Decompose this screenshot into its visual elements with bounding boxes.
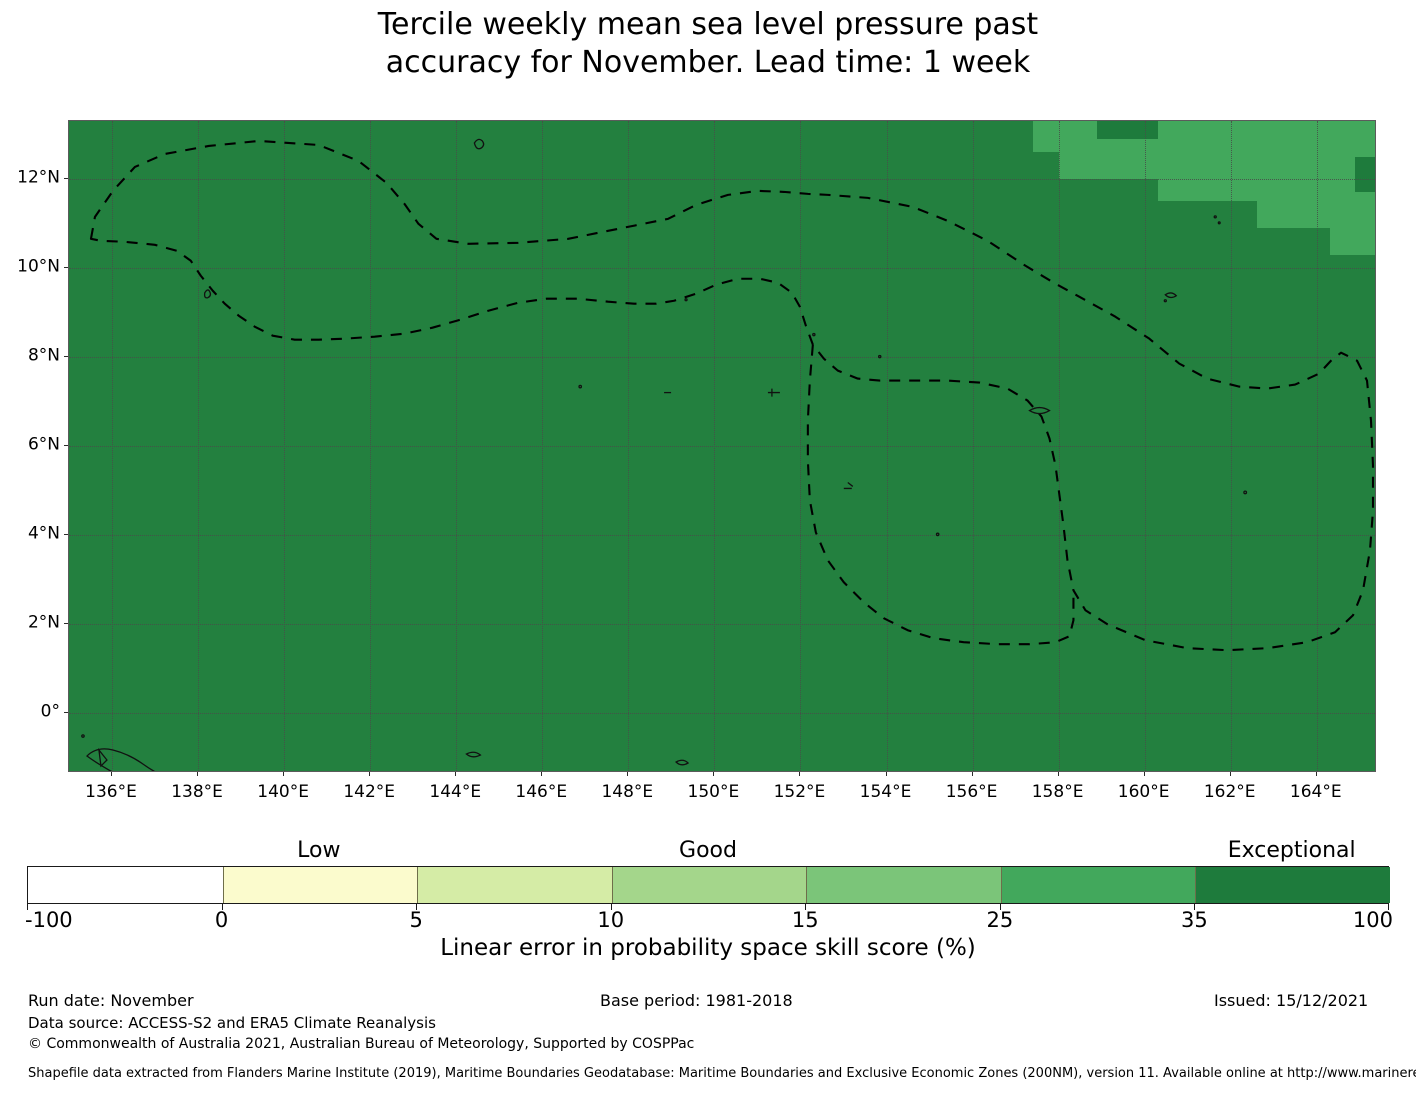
x-axis-tick-label: 158°E — [1032, 784, 1084, 801]
x-axis-tick-mark — [799, 772, 800, 776]
colorbar-tick-mark — [1388, 904, 1389, 910]
colorbar-band — [28, 867, 223, 903]
x-axis-tick-mark — [369, 772, 370, 776]
colorbar-band — [1001, 867, 1196, 903]
footer-issued-date: Issued: 15/12/2021 — [1214, 991, 1368, 1011]
colorbar-tick-label: 25 — [986, 910, 1013, 931]
map-data-cell — [1033, 121, 1059, 152]
y-axis-tick-label: 4°N — [0, 525, 60, 542]
colorbar-tick-label: 100 — [1353, 910, 1393, 931]
map-plot-area — [68, 120, 1376, 772]
x-axis-tick-label: 144°E — [429, 784, 481, 801]
y-axis-tick-label: 8°N — [0, 347, 60, 364]
map-raster-layer — [69, 121, 1375, 771]
x-axis-tick-mark — [1230, 772, 1231, 776]
colorbar-tick-mark — [611, 904, 612, 910]
x-axis-tick-label: 152°E — [774, 784, 826, 801]
x-axis-tick-label: 160°E — [1118, 784, 1170, 801]
colorbar-band — [612, 867, 807, 903]
y-axis-tick-mark — [64, 178, 68, 179]
footer-copyright: © Commonwealth of Australia 2021, Austra… — [28, 1034, 694, 1054]
y-axis-tick-mark — [64, 445, 68, 446]
y-axis-tick-label: 0° — [0, 703, 60, 720]
x-axis-tick-mark — [283, 772, 284, 776]
x-axis-tick-mark — [972, 772, 973, 776]
x-axis-tick-label: 162°E — [1204, 784, 1256, 801]
x-axis-tick-mark — [886, 772, 887, 776]
x-axis-tick-mark — [541, 772, 542, 776]
x-axis-tick-label: 148°E — [601, 784, 653, 801]
page-title: Tercile weekly mean sea level pressure p… — [0, 6, 1416, 82]
colorbar-tick-label: 0 — [215, 910, 228, 931]
map-data-cell — [1158, 121, 1257, 201]
x-axis-tick-label: 138°E — [171, 784, 223, 801]
x-axis-tick-label: 150°E — [688, 784, 740, 801]
map-data-cell — [1097, 121, 1157, 139]
x-axis-tick-label: 142°E — [343, 784, 395, 801]
x-axis-tick-mark — [1316, 772, 1317, 776]
colorbar-tick-mark — [1194, 904, 1195, 910]
colorbar-tick-label: 5 — [409, 910, 422, 931]
colorbar-band — [223, 867, 418, 903]
x-axis-tick-mark — [111, 772, 112, 776]
colorbar-band — [1195, 867, 1390, 903]
x-axis-tick-label: 136°E — [85, 784, 137, 801]
x-axis-tick-mark — [455, 772, 456, 776]
colorbar-category-label: Exceptional — [1228, 840, 1356, 862]
y-axis-tick-label: 12°N — [0, 169, 60, 186]
colorbar-category-label: Low — [297, 840, 340, 862]
x-axis-tick-label: 154°E — [860, 784, 912, 801]
colorbar-tick-label: -100 — [25, 910, 73, 931]
colorbar-tick-label: 15 — [792, 910, 819, 931]
colorbar-bands — [27, 866, 1389, 904]
x-axis-tick-label: 140°E — [257, 784, 309, 801]
colorbar-tick-label: 10 — [597, 910, 624, 931]
map-data-cell — [1355, 157, 1375, 193]
colorbar-tick-mark — [1000, 904, 1001, 910]
x-axis-tick-mark — [1058, 772, 1059, 776]
x-axis-tick-label: 146°E — [515, 784, 567, 801]
colorbar-tick-mark — [222, 904, 223, 910]
colorbar — [27, 866, 1389, 904]
x-axis-tick-label: 156°E — [946, 784, 998, 801]
y-axis-tick-mark — [64, 267, 68, 268]
footer-run-date: Run date: November — [28, 991, 194, 1011]
footer-data-source: Data source: ACCESS-S2 and ERA5 Climate … — [28, 1013, 436, 1033]
y-axis-tick-mark — [64, 534, 68, 535]
y-axis-tick-label: 10°N — [0, 258, 60, 275]
colorbar-band — [806, 867, 1001, 903]
colorbar-tick-label: 35 — [1181, 910, 1208, 931]
y-axis-tick-mark — [64, 623, 68, 624]
colorbar-tick-mark — [27, 904, 28, 910]
colorbar-axis-label: Linear error in probability space skill … — [0, 934, 1416, 962]
colorbar-band — [417, 867, 612, 903]
footer-base-period: Base period: 1981-2018 — [600, 991, 793, 1011]
y-axis-tick-mark — [64, 356, 68, 357]
x-axis-tick-mark — [627, 772, 628, 776]
colorbar-category-label: Good — [679, 840, 737, 862]
y-axis-tick-mark — [64, 712, 68, 713]
x-axis-tick-mark — [713, 772, 714, 776]
x-axis-tick-mark — [197, 772, 198, 776]
colorbar-tick-mark — [416, 904, 417, 910]
x-axis-tick-label: 164°E — [1290, 784, 1342, 801]
colorbar-tick-mark — [805, 904, 806, 910]
x-axis-tick-mark — [1144, 772, 1145, 776]
y-axis-tick-label: 2°N — [0, 614, 60, 631]
y-axis-tick-label: 6°N — [0, 436, 60, 453]
map-data-cell — [1330, 223, 1375, 254]
footer-shapefile-attribution: Shapefile data extracted from Flanders M… — [28, 1066, 1416, 1082]
